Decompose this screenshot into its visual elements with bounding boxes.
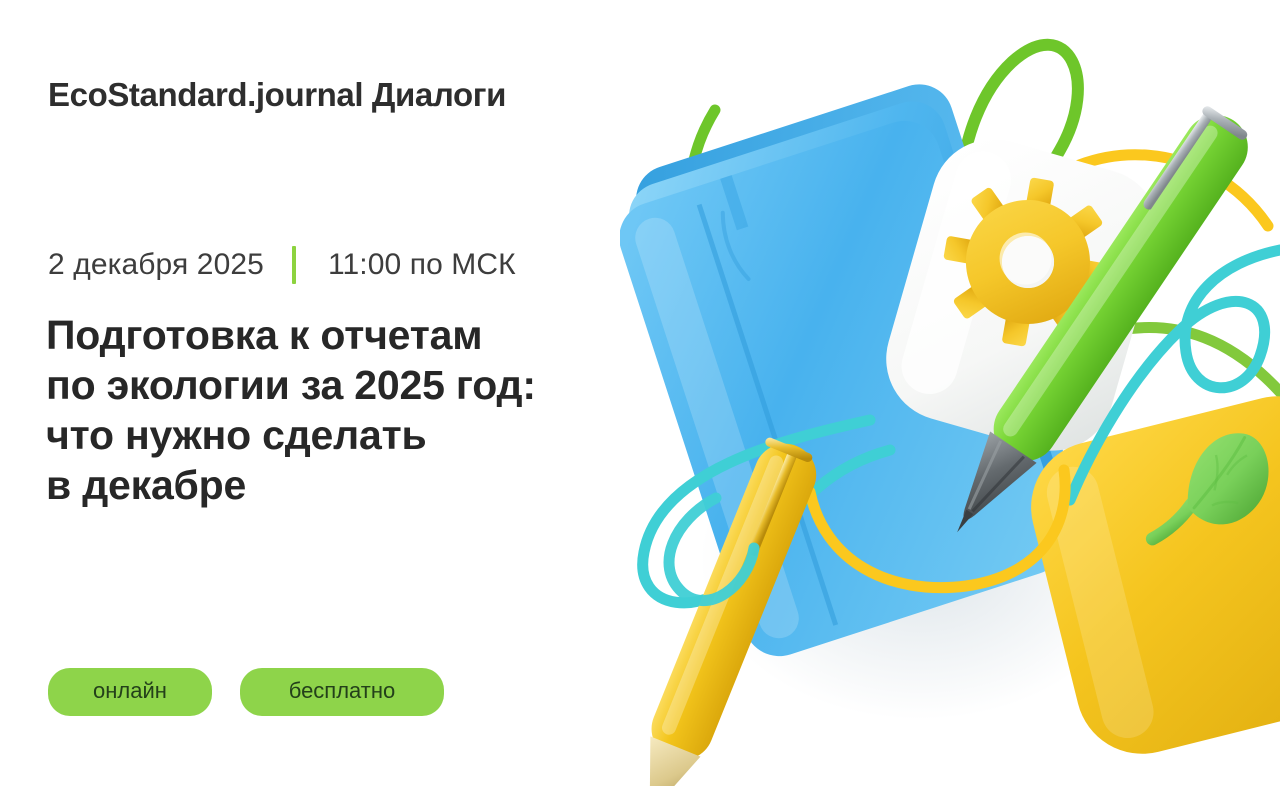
headline-line-4: в декабре — [46, 460, 536, 510]
event-meta: 2 декабря 2025 11:00 по МСК — [48, 246, 516, 284]
page-title: Подготовка к отчетам по экологии за 2025… — [46, 310, 536, 510]
headline-line-2: по экологии за 2025 год: — [46, 360, 536, 410]
badge-group: онлайн бесплатно — [48, 668, 444, 716]
brand-title: EcoStandard.journal Диалоги — [48, 76, 506, 114]
meta-divider — [292, 246, 296, 284]
headline-line-3: что нужно сделать — [46, 410, 536, 460]
event-time: 11:00 по МСК — [328, 248, 516, 282]
headline-line-1: Подготовка к отчетам — [46, 310, 536, 360]
event-date: 2 декабря 2025 — [48, 248, 264, 282]
badge-free[interactable]: бесплатно — [240, 668, 444, 716]
badge-online[interactable]: онлайн — [48, 668, 212, 716]
hero-illustration — [620, 0, 1280, 786]
webinar-banner: EcoStandard.journal Диалоги 2 декабря 20… — [0, 0, 1280, 786]
